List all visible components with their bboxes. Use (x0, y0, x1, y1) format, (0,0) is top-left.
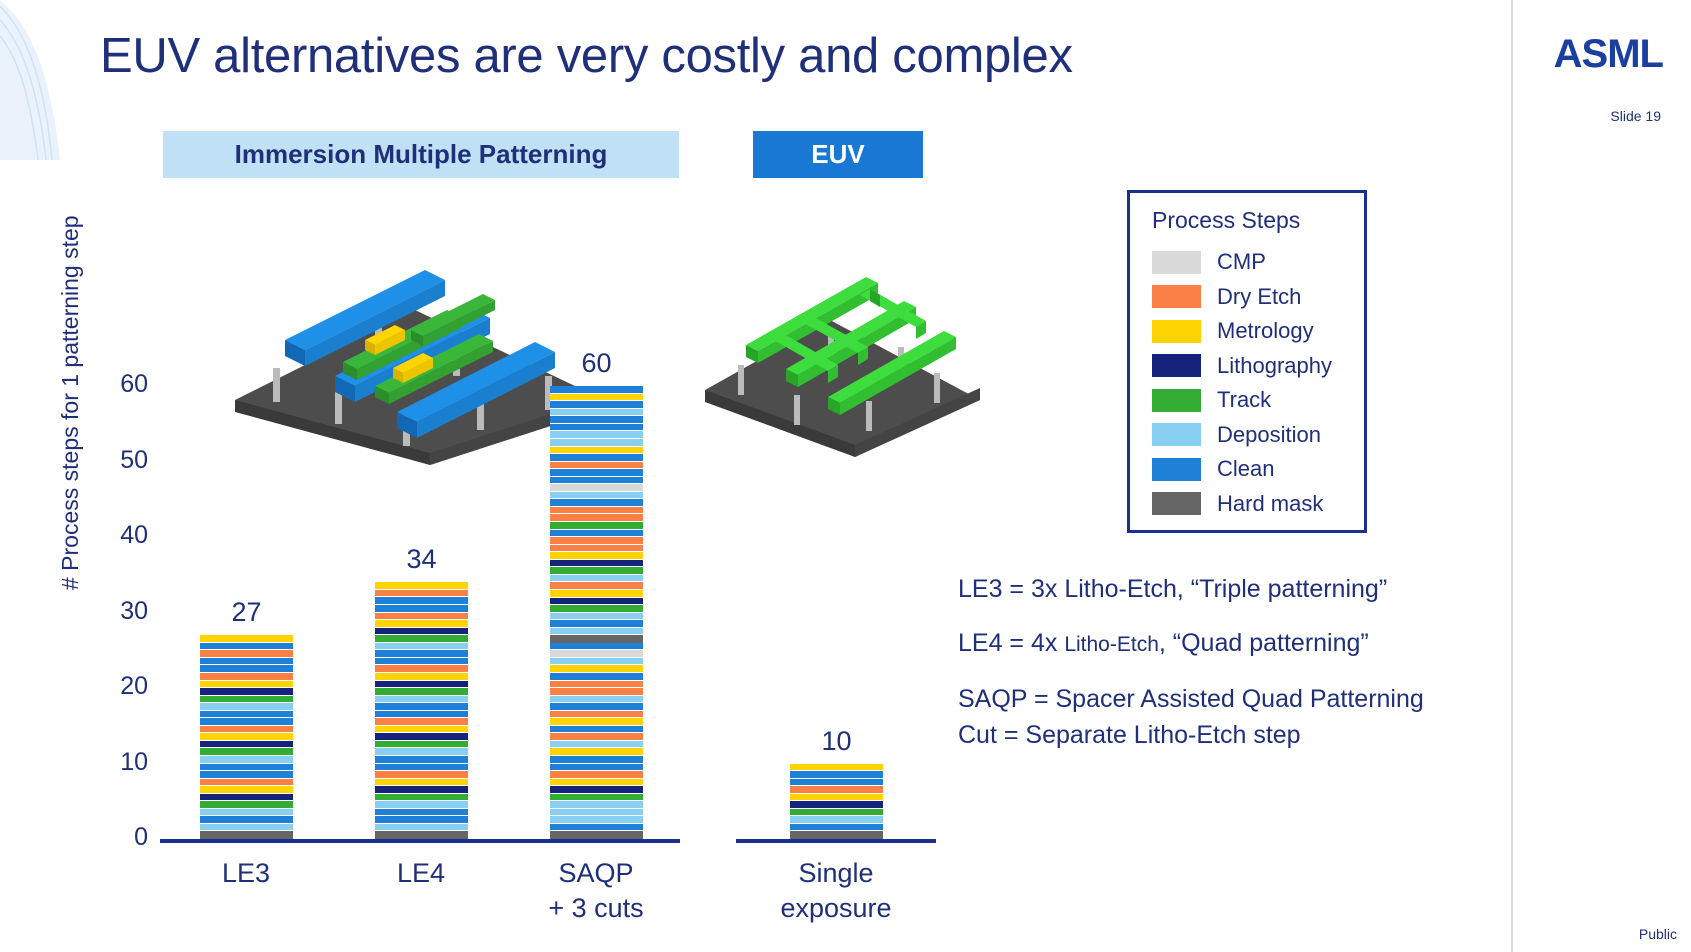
bar-segment-clean (200, 711, 293, 719)
bar-segment-metrology (375, 582, 468, 590)
legend-swatch-icon (1152, 423, 1201, 446)
bar-segment-clean (375, 658, 468, 666)
bar-segment-clean (550, 824, 643, 832)
bar-segment-metrology (200, 681, 293, 689)
bar-segment-deposition (375, 824, 468, 832)
x-axis-category-label: Singleexposure (746, 856, 926, 925)
bar-total-label: 34 (375, 544, 468, 575)
legend-swatch-icon (1152, 492, 1201, 515)
bar-segment-deposition (550, 409, 643, 417)
bar-segment-dry-etch (550, 545, 643, 553)
bar-segment-metrology (550, 552, 643, 560)
category-label-line1: SAQP (506, 856, 686, 891)
stacked-bar-chart: # Process steps for 1 patterning step 01… (60, 290, 960, 910)
vertical-divider (1511, 0, 1513, 952)
bar-segment-clean (550, 469, 643, 477)
bar-segment-clean (550, 477, 643, 485)
bar-segment-track (790, 809, 883, 817)
bar-segment-dry-etch (550, 514, 643, 522)
asml-logo-text: ASML (1554, 32, 1663, 76)
bar-segment-clean (200, 658, 293, 666)
bar-segment-dry-etch (375, 590, 468, 598)
bar-total-label: 10 (790, 726, 883, 757)
bar-segment-track (375, 741, 468, 749)
bar-segment-lithography (200, 794, 293, 802)
bar-segment-track (375, 794, 468, 802)
bar-segment-clean (550, 673, 643, 681)
bar-le3[interactable] (200, 635, 293, 839)
bar-segment-deposition (550, 439, 643, 447)
bar-segment-dry-etch (550, 681, 643, 689)
section-header-euv-label: EUV (811, 139, 864, 170)
bar-segment-metrology (550, 665, 643, 673)
bar-segment-dry-etch (550, 711, 643, 719)
x-axis-category-label: LE4 (331, 856, 511, 891)
bar-segment-clean (375, 597, 468, 605)
bar-segment-deposition (550, 696, 643, 704)
bar-segment-deposition (200, 756, 293, 764)
y-axis-tick-0: 0 (78, 823, 148, 852)
legend-item-label: CMP (1217, 251, 1266, 273)
bar-segment-metrology (200, 786, 293, 794)
bar-segment-metrology (550, 718, 643, 726)
bar-segment-clean (550, 386, 643, 394)
category-label-line1: LE3 (156, 856, 336, 891)
bar-segment-dry-etch (790, 786, 883, 794)
bar-segment-metrology (550, 447, 643, 455)
bar-segment-hard-mask (200, 831, 293, 839)
bar-segment-clean (375, 756, 468, 764)
bar-segment-clean (375, 764, 468, 772)
bar-segment-deposition (550, 741, 643, 749)
bar-segment-deposition (550, 492, 643, 500)
bar-segment-deposition (200, 809, 293, 817)
legend-item-label: Track (1217, 389, 1271, 411)
bar-segment-clean (550, 416, 643, 424)
bar-segment-metrology (550, 748, 643, 756)
bar-total-label: 60 (550, 348, 643, 379)
y-axis-tick-10: 10 (78, 748, 148, 777)
bar-segment-clean (375, 816, 468, 824)
bar-segment-deposition (375, 696, 468, 704)
legend-item-dry-etch: Dry Etch (1152, 280, 1364, 315)
bar-segment-clean (375, 703, 468, 711)
bar-segment-metrology (550, 590, 643, 598)
bar-segment-metrology (550, 394, 643, 402)
bar-segment-dry-etch (375, 718, 468, 726)
legend-item-label: Lithography (1217, 355, 1332, 377)
bar-segment-dry-etch (550, 771, 643, 779)
bar-segment-lithography (375, 786, 468, 794)
bar-segment-cmp (550, 484, 643, 492)
bar-segment-track (550, 522, 643, 530)
bar-segment-dry-etch (200, 726, 293, 734)
legend-swatch-icon (1152, 251, 1201, 274)
legend-item-lithography: Lithography (1152, 349, 1364, 384)
bar-segment-hard-mask (550, 635, 643, 643)
bar-segment-clean (550, 454, 643, 462)
y-axis-tick-40: 40 (78, 521, 148, 550)
bar-segment-dry-etch (550, 688, 643, 696)
bar-segment-clean (550, 643, 643, 651)
bar-segment-dry-etch (550, 507, 643, 515)
page-title: EUV alternatives are very costly and com… (100, 28, 1073, 84)
legend-item-clean: Clean (1152, 452, 1364, 487)
bar-segment-clean (550, 401, 643, 409)
bar-segment-clean (550, 424, 643, 432)
category-label-line2: + 3 cuts (506, 891, 686, 926)
note-le4-small: Litho-Etch (1064, 633, 1159, 656)
y-axis-tick-50: 50 (78, 446, 148, 475)
bar-total-label: 27 (200, 597, 293, 628)
bar-segment-clean (200, 665, 293, 673)
x-axis-category-label: SAQP+ 3 cuts (506, 856, 686, 925)
section-header-immersion: Immersion Multiple Patterning (163, 131, 679, 178)
category-label-line2: exposure (746, 891, 926, 926)
bar-segment-clean (375, 711, 468, 719)
bar-segment-deposition (550, 613, 643, 621)
bar-segment-lithography (200, 688, 293, 696)
bar-segment-lithography (550, 598, 643, 606)
legend-rows: CMPDry EtchMetrologyLithographyTrackDepo… (1152, 245, 1364, 521)
bar-segment-clean (200, 771, 293, 779)
x-axis-category-label: LE3 (156, 856, 336, 891)
bar-segment-deposition (550, 658, 643, 666)
bar-segment-deposition (550, 575, 643, 583)
bar-segment-clean (550, 764, 643, 772)
slide-root: EUV alternatives are very costly and com… (0, 0, 1691, 952)
bar-segment-deposition (550, 809, 643, 817)
bar-segment-clean (790, 779, 883, 787)
bar-segment-clean (200, 816, 293, 824)
bar-segment-clean (550, 726, 643, 734)
bar-segment-deposition (200, 703, 293, 711)
bar-segment-track (200, 801, 293, 809)
bar-segment-clean (550, 530, 643, 538)
bar-segment-clean (375, 650, 468, 658)
bar-segment-track (550, 605, 643, 613)
bar-segment-clean (550, 703, 643, 711)
bar-segment-dry-etch (200, 779, 293, 787)
bar-segment-metrology (550, 779, 643, 787)
bar-segment-metrology (375, 726, 468, 734)
note-saqp-line: SAQP = Spacer Assisted Quad Patterning (958, 685, 1424, 713)
bar-segment-lithography (790, 801, 883, 809)
bar-segment-dry-etch (375, 613, 468, 621)
legend-swatch-icon (1152, 285, 1201, 308)
legend-item-deposition: Deposition (1152, 418, 1364, 453)
bar-segment-lithography (200, 741, 293, 749)
bar-segment-track (200, 696, 293, 704)
bar-segment-dry-etch (200, 673, 293, 681)
bar-segment-metrology (375, 620, 468, 628)
bar-segment-deposition (550, 431, 643, 439)
bar-single[interactable] (790, 764, 883, 840)
category-label-line1: Single (746, 856, 926, 891)
legend-swatch-icon (1152, 320, 1201, 343)
bar-segment-dry-etch (550, 462, 643, 470)
bar-segment-track (375, 688, 468, 696)
legend-item-cmp: CMP (1152, 245, 1364, 280)
bar-segment-metrology (790, 764, 883, 772)
legend-swatch-icon (1152, 354, 1201, 377)
legend-swatch-icon (1152, 458, 1201, 481)
bar-segment-track (200, 748, 293, 756)
bar-segment-deposition (550, 628, 643, 636)
bar-segment-clean (790, 824, 883, 832)
bar-segment-lithography (375, 681, 468, 689)
legend-item-hard-mask: Hard mask (1152, 487, 1364, 522)
bar-segment-metrology (200, 635, 293, 643)
bar-segment-clean (200, 643, 293, 651)
bar-segment-metrology (375, 779, 468, 787)
note-le4: LE4 = 4x Litho-Etch, “Quad patterning” (958, 629, 1558, 659)
bar-segment-hard-mask (790, 831, 883, 839)
bar-segment-hard-mask (375, 831, 468, 839)
note-le3: LE3 = 3x Litho-Etch, “Triple patterning” (958, 575, 1558, 605)
legend-swatch-icon (1152, 389, 1201, 412)
bar-segment-deposition (375, 643, 468, 651)
bar-segment-cmp (550, 650, 643, 658)
bar-segment-clean (375, 809, 468, 817)
legend-item-track: Track (1152, 383, 1364, 418)
bar-segment-clean (550, 756, 643, 764)
bar-segment-metrology (790, 794, 883, 802)
bar-segment-dry-etch (375, 771, 468, 779)
bar-segment-lithography (375, 733, 468, 741)
legend-item-label: Deposition (1217, 424, 1321, 446)
note-le4-suffix: , “Quad patterning” (1159, 629, 1369, 657)
bar-segment-clean (550, 499, 643, 507)
y-axis-tick-30: 30 (78, 597, 148, 626)
legend-item-label: Metrology (1217, 320, 1314, 342)
legend-item-label: Dry Etch (1217, 286, 1301, 308)
y-axis-tick-20: 20 (78, 672, 148, 701)
bar-segment-metrology (200, 733, 293, 741)
legend-title: Process Steps (1152, 207, 1364, 234)
x-axis-line-left (160, 839, 680, 843)
bar-segment-metrology (375, 673, 468, 681)
slide-number: Slide 19 (1610, 108, 1661, 124)
bar-segment-track (375, 635, 468, 643)
bar-segment-lithography (375, 628, 468, 636)
bar-segment-deposition (375, 801, 468, 809)
bar-segment-deposition (550, 816, 643, 824)
bar-saqp[interactable] (550, 386, 643, 839)
note-cut-line: Cut = Separate Litho-Etch step (958, 721, 1301, 749)
bar-segment-track (550, 567, 643, 575)
bar-segment-dry-etch (550, 733, 643, 741)
bar-segment-lithography (550, 786, 643, 794)
bar-segment-track (550, 794, 643, 802)
legend-item-label: Clean (1217, 458, 1274, 480)
bar-segment-lithography (550, 560, 643, 568)
classification-label: Public (1639, 926, 1677, 942)
bar-segment-hard-mask (550, 831, 643, 839)
x-axis-line-right (736, 839, 936, 843)
y-axis-tick-60: 60 (78, 370, 148, 399)
bar-segment-clean (790, 771, 883, 779)
note-cut: Cut = Separate Litho-Etch step (958, 718, 1558, 754)
bar-segment-dry-etch (375, 665, 468, 673)
category-label-line1: LE4 (331, 856, 511, 891)
bar-segment-clean (200, 718, 293, 726)
chart-legend: Process Steps CMPDry EtchMetrologyLithog… (1127, 190, 1367, 533)
bar-segment-clean (375, 605, 468, 613)
bar-le4[interactable] (375, 582, 468, 839)
bar-segment-deposition (790, 816, 883, 824)
note-le4-prefix: LE4 = 4x (958, 629, 1064, 657)
decorative-swoosh (0, 0, 70, 160)
bar-segment-deposition (200, 824, 293, 832)
bar-segment-clean (200, 764, 293, 772)
bar-segment-dry-etch (550, 582, 643, 590)
bar-segment-clean (550, 620, 643, 628)
section-header-euv: EUV (753, 131, 923, 178)
explanatory-notes: LE3 = 3x Litho-Etch, “Triple patterning”… (958, 575, 1558, 753)
bar-segment-deposition (550, 801, 643, 809)
bar-segment-dry-etch (550, 537, 643, 545)
bar-segment-dry-etch (200, 650, 293, 658)
bar-segment-deposition (375, 748, 468, 756)
section-header-immersion-label: Immersion Multiple Patterning (235, 139, 608, 170)
legend-item-metrology: Metrology (1152, 314, 1364, 349)
asml-logo: ASML (1554, 32, 1663, 77)
note-saqp: SAQP = Spacer Assisted Quad Patterning (958, 682, 1558, 718)
legend-item-label: Hard mask (1217, 493, 1323, 515)
